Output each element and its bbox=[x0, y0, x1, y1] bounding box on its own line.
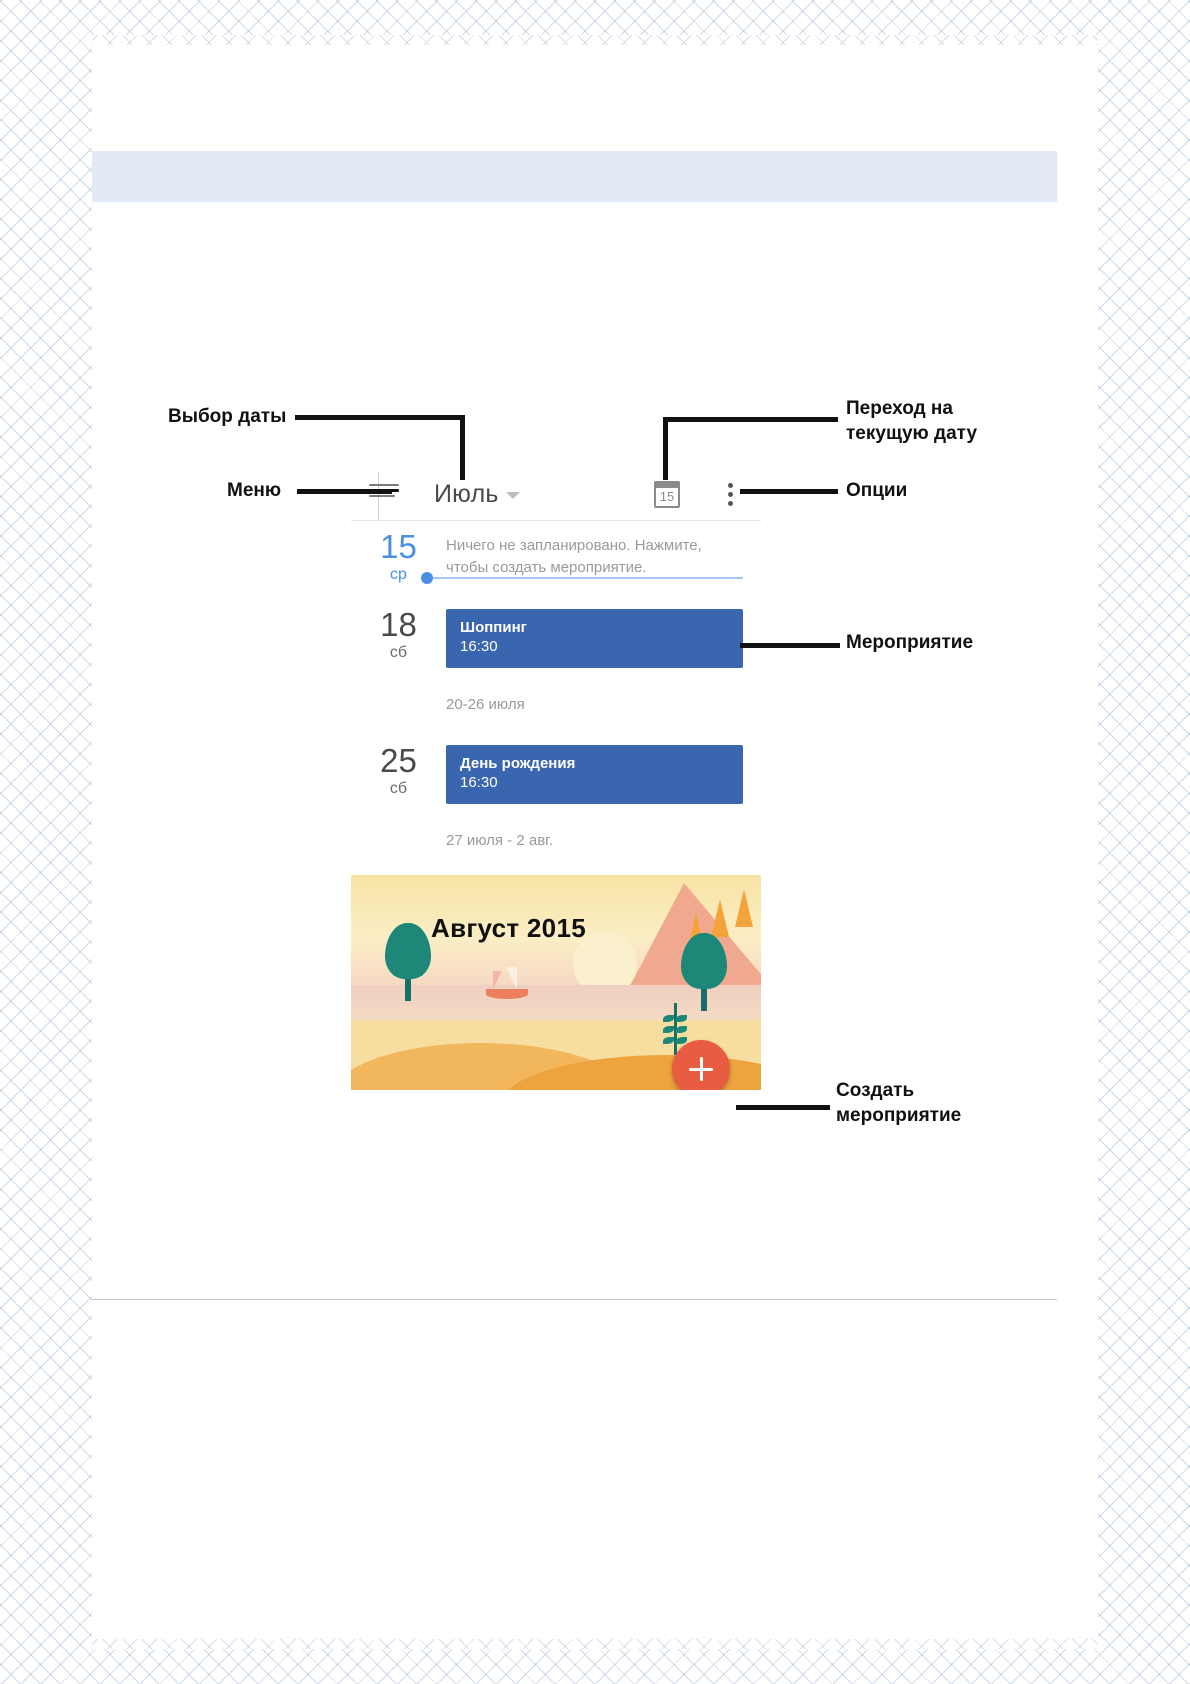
month-banner-title: Август 2015 bbox=[431, 913, 586, 944]
pine-spike bbox=[735, 889, 753, 927]
event-time: 16:30 bbox=[460, 637, 729, 657]
sailboat-icon bbox=[486, 967, 528, 999]
calendar-today-icon[interactable]: 15 bbox=[654, 481, 680, 508]
day-25-content: День рождения 16:30 bbox=[446, 735, 761, 806]
fern-leaf bbox=[676, 1026, 687, 1033]
header-band bbox=[92, 151, 1057, 202]
current-time-line bbox=[427, 577, 743, 579]
calendar-icon-day: 15 bbox=[654, 489, 680, 505]
day-header-25: 25 сб bbox=[351, 735, 446, 806]
event-title: Шоппинг bbox=[460, 618, 729, 637]
tree-icon bbox=[681, 933, 727, 1011]
fern-leaf bbox=[663, 1026, 674, 1033]
event-card[interactable]: День рождения 16:30 bbox=[446, 745, 743, 804]
event-title: День рождения bbox=[460, 754, 729, 773]
chevron-down-icon[interactable] bbox=[506, 492, 520, 499]
day-18-content: Шоппинг 16:30 bbox=[446, 599, 761, 670]
leader-line-options bbox=[740, 489, 838, 494]
boat-hull bbox=[486, 989, 528, 999]
day-number: 18 bbox=[351, 607, 446, 643]
tree-crown bbox=[681, 933, 727, 989]
week-header: 20-26 июля bbox=[351, 670, 761, 735]
footer-divider bbox=[92, 1299, 1057, 1300]
event-time: 16:30 bbox=[460, 773, 729, 793]
leader-line-date-picker-h bbox=[295, 415, 465, 420]
month-label[interactable]: Июль bbox=[434, 480, 499, 509]
agenda-day-18[interactable]: 18 сб Шоппинг 16:30 bbox=[351, 599, 761, 670]
event-card[interactable]: Шоппинг 16:30 bbox=[446, 609, 743, 668]
fern-leaf bbox=[663, 1037, 674, 1044]
callout-label-options: Опции bbox=[846, 478, 907, 503]
callout-label-event: Мероприятие bbox=[846, 630, 973, 655]
tree-crown bbox=[385, 923, 431, 979]
day-name: сб bbox=[351, 779, 446, 799]
agenda-day-15[interactable]: 15 ср Ничего не запланировано. Нажмите, … bbox=[351, 521, 761, 585]
pine-spike bbox=[711, 899, 729, 937]
callout-label-menu: Меню bbox=[227, 478, 281, 503]
day-15-content[interactable]: Ничего не запланировано. Нажмите, чтобы … bbox=[446, 521, 761, 585]
week-header: 27 июля - 2 авг. bbox=[351, 806, 761, 871]
create-event-fab[interactable] bbox=[672, 1040, 730, 1090]
app-bar: Июль 15 bbox=[351, 468, 761, 521]
callout-label-create-event: Создать мероприятие bbox=[836, 1078, 961, 1128]
leader-line-create-event bbox=[736, 1105, 830, 1110]
month-illustration-banner: Август 2015 bbox=[351, 875, 761, 1090]
fern-leaf bbox=[676, 1037, 687, 1044]
more-vertical-icon[interactable] bbox=[728, 483, 733, 507]
fern-leaf bbox=[663, 1015, 674, 1022]
leader-line-today-v bbox=[663, 417, 668, 480]
callout-label-go-to-today: Переход на текущую дату bbox=[846, 396, 977, 446]
day-number: 15 bbox=[351, 529, 446, 565]
callout-label-date-picker: Выбор даты bbox=[168, 404, 286, 429]
shore-wave-edge bbox=[351, 1017, 761, 1029]
leader-line-today-h bbox=[663, 417, 838, 422]
leader-line-menu bbox=[297, 489, 392, 494]
current-time-dot bbox=[421, 572, 433, 584]
day-number: 25 bbox=[351, 743, 446, 779]
leader-line-date-picker-v bbox=[460, 415, 465, 480]
day-name: сб bbox=[351, 643, 446, 663]
calendar-app-screen: Июль 15 15 ср Ничего не запланировано. Н bbox=[351, 468, 761, 1123]
empty-day-text[interactable]: Ничего не запланировано. Нажмите, чтобы … bbox=[446, 531, 743, 579]
agenda-day-25[interactable]: 25 сб День рождения 16:30 bbox=[351, 735, 761, 806]
calendar-icon-top bbox=[654, 481, 680, 488]
agenda-list: 15 ср Ничего не запланировано. Нажмите, … bbox=[351, 521, 761, 1090]
leader-line-event bbox=[740, 643, 840, 648]
tree-icon bbox=[385, 923, 431, 1001]
boat-sail-front bbox=[503, 967, 517, 989]
plus-icon-vertical bbox=[700, 1057, 703, 1081]
fern-leaf bbox=[676, 1015, 687, 1022]
day-header-18: 18 сб bbox=[351, 599, 446, 670]
